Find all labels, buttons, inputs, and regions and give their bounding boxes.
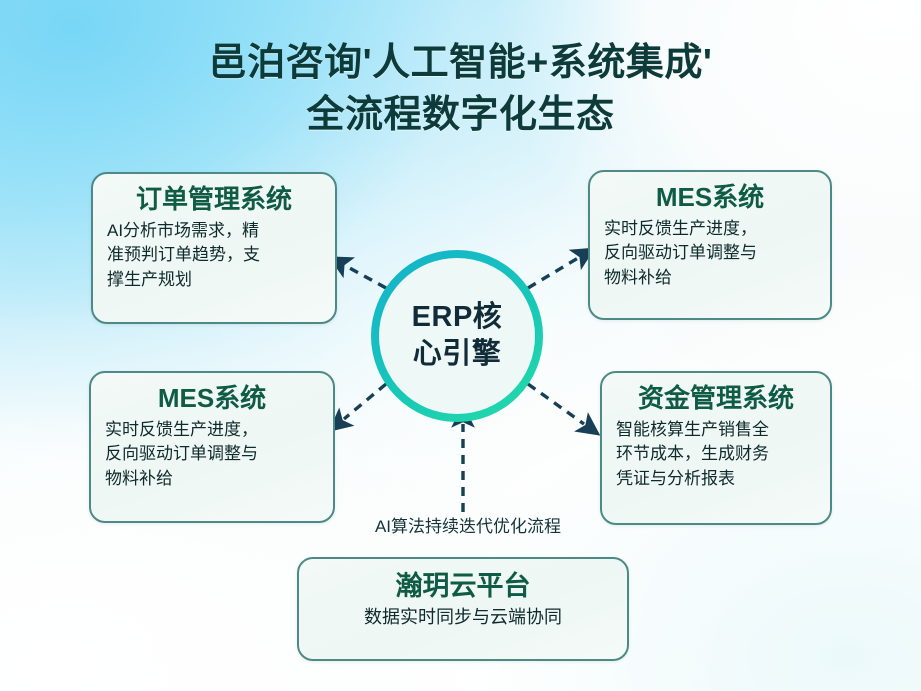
erp-core-hub-label: ERP核 心引擎 — [412, 299, 503, 372]
card-cloud-platform-body: 数据实时同步与云端协同 — [313, 605, 613, 631]
erp-core-hub[interactable]: ERP核 心引擎 — [371, 250, 543, 422]
card-mes-bottom-title: MES系统 — [105, 383, 319, 414]
card-order-management-title: 订单管理系统 — [107, 184, 321, 215]
card-fund-management[interactable]: 资金管理系统 智能核算生产销售全 环节成本，生成财务 凭证与分析报表 — [600, 371, 832, 525]
card-fund-management-title: 资金管理系统 — [616, 383, 816, 414]
page-title: 邑泊咨询'人工智能+系统集成' 全流程数字化生态 — [0, 38, 921, 141]
card-order-management[interactable]: 订单管理系统 AI分析市场需求，精 准预判订单趋势，支 撑生产规划 — [91, 172, 337, 324]
card-mes-top[interactable]: MES系统 实时反馈生产进度， 反向驱动订单调整与 物料补给 — [588, 170, 832, 320]
card-cloud-platform-title: 瀚玥云平台 — [313, 571, 613, 603]
card-order-management-body: AI分析市场需求，精 准预判订单趋势，支 撑生产规划 — [107, 219, 321, 292]
card-mes-bottom-body: 实时反馈生产进度， 反向驱动订单调整与 物料补给 — [105, 418, 319, 491]
arrow-hub-to-order-management — [346, 266, 386, 288]
card-mes-bottom[interactable]: MES系统 实时反馈生产进度， 反向驱动订单调整与 物料补给 — [89, 371, 335, 523]
connector-caption: AI算法持续迭代优化流程 — [338, 517, 598, 537]
infographic-canvas: 邑泊咨询'人工智能+系统集成' 全流程数字化生态 ERP核 心 — [0, 0, 921, 691]
arrow-hub-to-fund-management — [528, 384, 584, 424]
arrow-hub-to-mes-top — [528, 258, 578, 288]
card-mes-top-title: MES系统 — [604, 182, 816, 213]
card-fund-management-body: 智能核算生产销售全 环节成本，生成财务 凭证与分析报表 — [616, 418, 816, 491]
card-mes-top-body: 实时反馈生产进度， 反向驱动订单调整与 物料补给 — [604, 217, 816, 290]
card-cloud-platform[interactable]: 瀚玥云平台 数据实时同步与云端协同 — [297, 557, 629, 661]
arrow-hub-to-mes-bottom — [344, 384, 386, 419]
